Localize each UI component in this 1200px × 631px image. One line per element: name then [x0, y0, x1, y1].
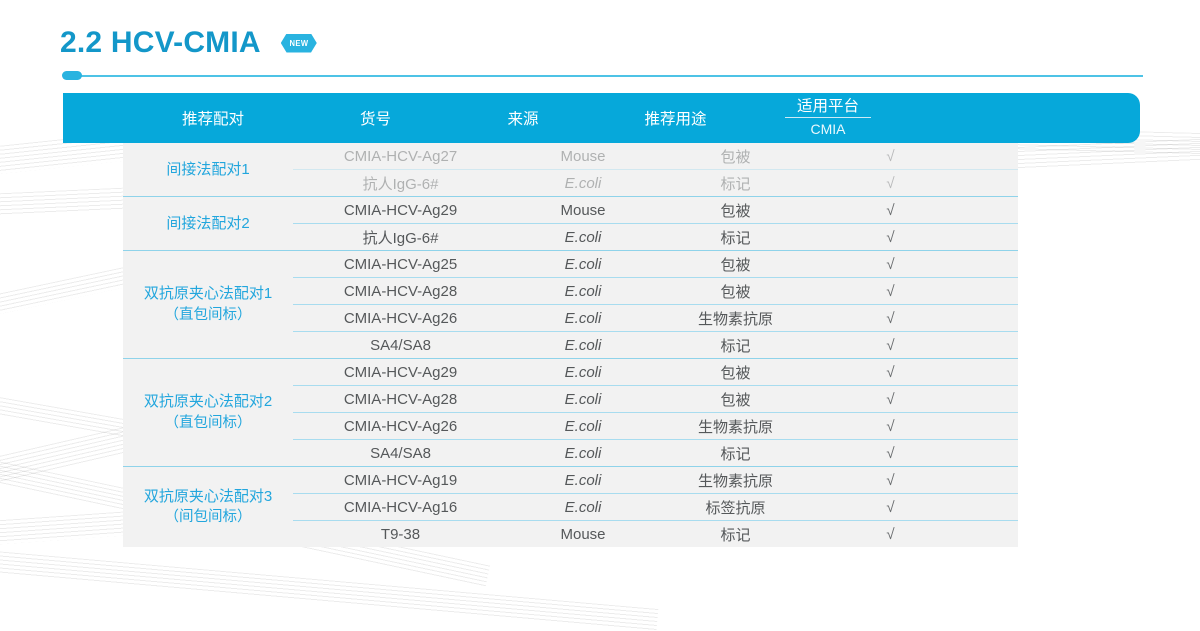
cell-usage: 包被 [658, 146, 813, 167]
cell-usage: 生物素抗原 [658, 308, 813, 329]
group-label-main: 双抗原夹心法配对2 [144, 391, 272, 413]
cell-usage: 标记 [658, 335, 813, 356]
group-label-sub: （直包间标） [165, 413, 252, 434]
cell-source: E.coli [508, 472, 658, 489]
cell-source: E.coli [508, 310, 658, 327]
table-row: SA4/SA8E.coli标记√ [293, 331, 1018, 358]
cell-catalog: CMIA-HCV-Ag28 [293, 283, 508, 300]
group-label: 双抗原夹心法配对1（直包间标） [123, 251, 293, 358]
cell-catalog: CMIA-HCV-Ag26 [293, 418, 508, 435]
cell-usage: 标记 [658, 524, 813, 545]
group-rows: CMIA-HCV-Ag19E.coli生物素抗原√CMIA-HCV-Ag16E.… [293, 467, 1018, 547]
slide-title-row: 2.2 HCV-CMIA NEW [60, 28, 317, 58]
cell-cmia-check: √ [813, 229, 968, 246]
cell-cmia-check: √ [813, 418, 968, 435]
group-rows: CMIA-HCV-Ag29Mouse包被√抗人IgG-6#E.coli标记√ [293, 197, 1018, 250]
table-row: CMIA-HCV-Ag26E.coli生物素抗原√ [293, 304, 1018, 331]
table-row: 抗人IgG-6#E.coli标记√ [293, 223, 1018, 250]
cell-usage: 包被 [658, 281, 813, 302]
cell-cmia-check: √ [813, 310, 968, 327]
cell-catalog: CMIA-HCV-Ag26 [293, 310, 508, 327]
column-header-platform: 适用平台 CMIA [753, 93, 903, 143]
cell-catalog: CMIA-HCV-Ag29 [293, 364, 508, 381]
table-group: 双抗原夹心法配对1（直包间标）CMIA-HCV-Ag25E.coli包被√CMI… [123, 250, 1018, 358]
table-row: T9-38Mouse标记√ [293, 520, 1018, 547]
cell-cmia-check: √ [813, 445, 968, 462]
cell-usage: 标记 [658, 227, 813, 248]
cell-usage: 标签抗原 [658, 497, 813, 518]
cell-catalog: CMIA-HCV-Ag27 [293, 148, 508, 165]
column-header-pair: 推荐配对 [123, 93, 303, 143]
cell-cmia-check: √ [813, 364, 968, 381]
group-label: 间接法配对1 [123, 143, 293, 196]
table-row: CMIA-HCV-Ag29Mouse包被√ [293, 197, 1018, 223]
cell-source: E.coli [508, 283, 658, 300]
cell-source: E.coli [508, 445, 658, 462]
cell-catalog: CMIA-HCV-Ag16 [293, 499, 508, 516]
new-badge-label: NEW [289, 39, 308, 48]
table-row: CMIA-HCV-Ag29E.coli包被√ [293, 359, 1018, 385]
cell-usage: 包被 [658, 389, 813, 410]
cell-catalog: SA4/SA8 [293, 337, 508, 354]
group-label: 间接法配对2 [123, 197, 293, 250]
cell-usage: 包被 [658, 254, 813, 275]
cell-cmia-check: √ [813, 526, 968, 543]
group-label-sub: （间包间标） [165, 507, 252, 528]
table-row: CMIA-HCV-Ag16E.coli标签抗原√ [293, 493, 1018, 520]
cell-cmia-check: √ [813, 175, 968, 192]
cell-cmia-check: √ [813, 202, 968, 219]
cell-source: E.coli [508, 337, 658, 354]
column-header-platform-title: 适用平台 [785, 97, 871, 118]
title-underline [78, 75, 1143, 77]
cell-catalog: SA4/SA8 [293, 445, 508, 462]
cell-source: Mouse [508, 202, 658, 219]
table-row: CMIA-HCV-Ag19E.coli生物素抗原√ [293, 467, 1018, 493]
table-group: 间接法配对1CMIA-HCV-Ag27Mouse包被√抗人IgG-6#E.col… [123, 143, 1018, 196]
group-rows: CMIA-HCV-Ag29E.coli包被√CMIA-HCV-Ag28E.col… [293, 359, 1018, 466]
table-row: 抗人IgG-6#E.coli标记√ [293, 169, 1018, 196]
table-group: 双抗原夹心法配对3（间包间标）CMIA-HCV-Ag19E.coli生物素抗原√… [123, 466, 1018, 547]
cell-cmia-check: √ [813, 256, 968, 273]
cell-usage: 标记 [658, 173, 813, 194]
cell-source: E.coli [508, 418, 658, 435]
cell-usage: 标记 [658, 443, 813, 464]
group-label: 双抗原夹心法配对2（直包间标） [123, 359, 293, 466]
cell-usage: 包被 [658, 362, 813, 383]
cell-cmia-check: √ [813, 283, 968, 300]
group-label-main: 双抗原夹心法配对1 [144, 283, 272, 305]
table-group: 双抗原夹心法配对2（直包间标）CMIA-HCV-Ag29E.coli包被√CMI… [123, 358, 1018, 466]
table-body: 间接法配对1CMIA-HCV-Ag27Mouse包被√抗人IgG-6#E.col… [123, 143, 1018, 547]
table-row: SA4/SA8E.coli标记√ [293, 439, 1018, 466]
cell-source: Mouse [508, 526, 658, 543]
ribbon-band [0, 548, 658, 631]
cell-catalog: 抗人IgG-6# [293, 227, 508, 248]
column-header-usage: 推荐用途 [598, 93, 753, 143]
column-header-source: 来源 [448, 93, 598, 143]
cell-catalog: CMIA-HCV-Ag25 [293, 256, 508, 273]
title-underline-dot [62, 71, 82, 80]
cell-catalog: CMIA-HCV-Ag19 [293, 472, 508, 489]
cell-cmia-check: √ [813, 499, 968, 516]
group-label: 双抗原夹心法配对3（间包间标） [123, 467, 293, 547]
table-row: CMIA-HCV-Ag28E.coli包被√ [293, 385, 1018, 412]
cell-source: E.coli [508, 364, 658, 381]
table-row: CMIA-HCV-Ag27Mouse包被√ [293, 143, 1018, 169]
cell-usage: 包被 [658, 200, 813, 221]
cell-usage: 生物素抗原 [658, 470, 813, 491]
group-label-main: 间接法配对2 [166, 213, 249, 235]
table-row: CMIA-HCV-Ag25E.coli包被√ [293, 251, 1018, 277]
group-label-sub: （直包间标） [165, 305, 252, 326]
cell-cmia-check: √ [813, 148, 968, 165]
cell-cmia-check: √ [813, 472, 968, 489]
cell-cmia-check: √ [813, 337, 968, 354]
table-group: 间接法配对2CMIA-HCV-Ag29Mouse包被√抗人IgG-6#E.col… [123, 196, 1018, 250]
column-header-platform-sub: CMIA [811, 118, 846, 139]
cell-source: E.coli [508, 499, 658, 516]
cell-source: E.coli [508, 256, 658, 273]
cell-catalog: 抗人IgG-6# [293, 173, 508, 194]
cell-catalog: T9-38 [293, 526, 508, 543]
group-label-main: 间接法配对1 [166, 159, 249, 181]
cell-cmia-check: √ [813, 391, 968, 408]
cell-usage: 生物素抗原 [658, 416, 813, 437]
ribbon-band [0, 392, 139, 439]
group-label-main: 双抗原夹心法配对3 [144, 486, 272, 508]
pairing-table: 推荐配对 货号 来源 推荐用途 适用平台 CMIA 间接法配对1CMIA-HCV… [63, 93, 1140, 143]
new-badge: NEW [281, 34, 317, 53]
cell-source: E.coli [508, 391, 658, 408]
table-header-row: 推荐配对 货号 来源 推荐用途 适用平台 CMIA [63, 93, 1140, 143]
cell-source: E.coli [508, 229, 658, 246]
cell-catalog: CMIA-HCV-Ag29 [293, 202, 508, 219]
cell-source: E.coli [508, 175, 658, 192]
table-row: CMIA-HCV-Ag28E.coli包被√ [293, 277, 1018, 304]
cell-source: Mouse [508, 148, 658, 165]
group-rows: CMIA-HCV-Ag25E.coli包被√CMIA-HCV-Ag28E.col… [293, 251, 1018, 358]
group-rows: CMIA-HCV-Ag27Mouse包被√抗人IgG-6#E.coli标记√ [293, 143, 1018, 196]
table-row: CMIA-HCV-Ag26E.coli生物素抗原√ [293, 412, 1018, 439]
cell-catalog: CMIA-HCV-Ag28 [293, 391, 508, 408]
page-title: 2.2 HCV-CMIA [60, 28, 261, 58]
column-header-catalog: 货号 [303, 93, 448, 143]
